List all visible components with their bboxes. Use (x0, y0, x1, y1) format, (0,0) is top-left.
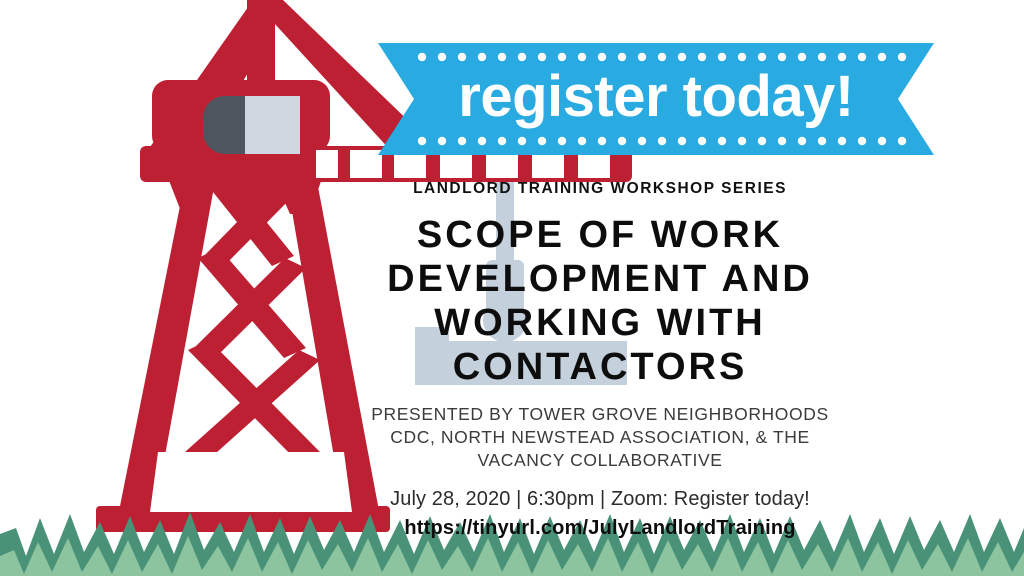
event-datetime: July 28, 2020 | 6:30pm | Zoom: Register … (352, 486, 848, 512)
headline-line: WORKING WITH (434, 302, 766, 344)
headline-line: SCOPE OF WORK (417, 214, 783, 256)
grass-front-layer (0, 536, 1024, 576)
presenters-text: PRESENTED BY TOWER GROVE NEIGHBORHOODS C… (352, 403, 848, 472)
headline-line: CONTACTORS (453, 346, 748, 388)
series-eyebrow: LANDLORD TRAINING WORKSHOP SERIES (352, 180, 848, 199)
crane-operator-cab (203, 96, 300, 154)
flyer-text-column: LANDLORD TRAINING WORKSHOP SERIES SCOPE … (352, 180, 848, 541)
headline-line: DEVELOPMENT AND (387, 258, 813, 300)
page-title: SCOPE OF WORK DEVELOPMENT AND WORKING WI… (352, 213, 848, 389)
flyer-canvas: register today! LANDLORD TRAINING WORKSH… (0, 0, 1024, 576)
registration-url[interactable]: https://tinyurl.com/JulyLandlordTraining (352, 515, 848, 541)
register-today-ribbon: register today! (378, 43, 934, 155)
register-today-label: register today! (378, 43, 934, 155)
